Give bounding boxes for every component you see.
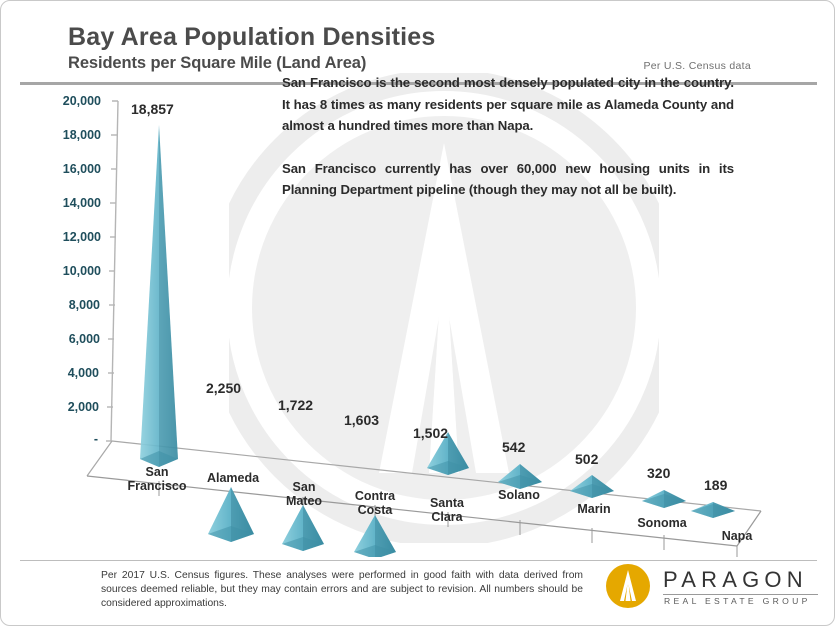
page-subtitle: Residents per Square Mile (Land Area) (68, 54, 366, 73)
bar-sonoma (642, 490, 686, 508)
value-label-san-francisco: 18,857 (131, 101, 174, 117)
footer-disclaimer: Per 2017 U.S. Census figures. These anal… (101, 569, 583, 612)
paragon-logo-wordmark: PARAGON (663, 567, 808, 593)
paragon-logo-icon (605, 563, 651, 609)
y-tick-label-8000: 8,000 (25, 298, 100, 312)
y-tick-label-16000: 16,000 (25, 162, 101, 176)
value-label-contra-costa: 1,603 (344, 412, 379, 428)
value-label-sonoma: 320 (647, 465, 670, 481)
annotation-paragraph-1: San Francisco is the second most densely… (282, 72, 734, 137)
source-note: Per U.S. Census data (643, 60, 751, 72)
x-label-sonoma: Sonoma (614, 516, 710, 530)
y-tick-label-20000: 20,000 (25, 94, 101, 108)
y-tick-label-6000: 6,000 (25, 332, 100, 346)
chart-slide: Bay Area Population Densities Residents … (0, 0, 835, 626)
y-tick-label-12000: 12,000 (25, 230, 101, 244)
y-tick-label-2000: 2,000 (25, 400, 99, 414)
x-label-marin: Marin (546, 502, 642, 516)
y-tick-label-18000: 18,000 (25, 128, 101, 142)
y-tick-label-0: - (25, 432, 98, 446)
paragon-logo: PARAGON REAL ESTATE GROUP (605, 561, 820, 613)
page-title: Bay Area Population Densities (68, 23, 435, 52)
value-label-alameda: 2,250 (206, 380, 241, 396)
bar-solano (498, 464, 542, 489)
annotation-textbox: San Francisco is the second most densely… (282, 72, 734, 201)
x-label-napa: Napa (689, 529, 785, 543)
value-label-santa-clara: 1,502 (413, 425, 448, 441)
annotation-paragraph-2: San Francisco currently has over 60,000 … (282, 158, 734, 201)
y-tick-label-14000: 14,000 (25, 196, 101, 210)
value-label-napa: 189 (704, 477, 727, 493)
paragon-logo-tagline: REAL ESTATE GROUP (664, 596, 811, 606)
value-label-solano: 542 (502, 439, 525, 455)
paragon-logo-rule (663, 594, 818, 595)
y-tick-label-10000: 10,000 (25, 264, 101, 278)
bar-marin (570, 475, 614, 498)
value-label-san-mateo: 1,722 (278, 397, 313, 413)
x-label-solano: Solano (471, 488, 567, 502)
y-tick-label-4000: 4,000 (25, 366, 99, 380)
value-label-marin: 502 (575, 451, 598, 467)
